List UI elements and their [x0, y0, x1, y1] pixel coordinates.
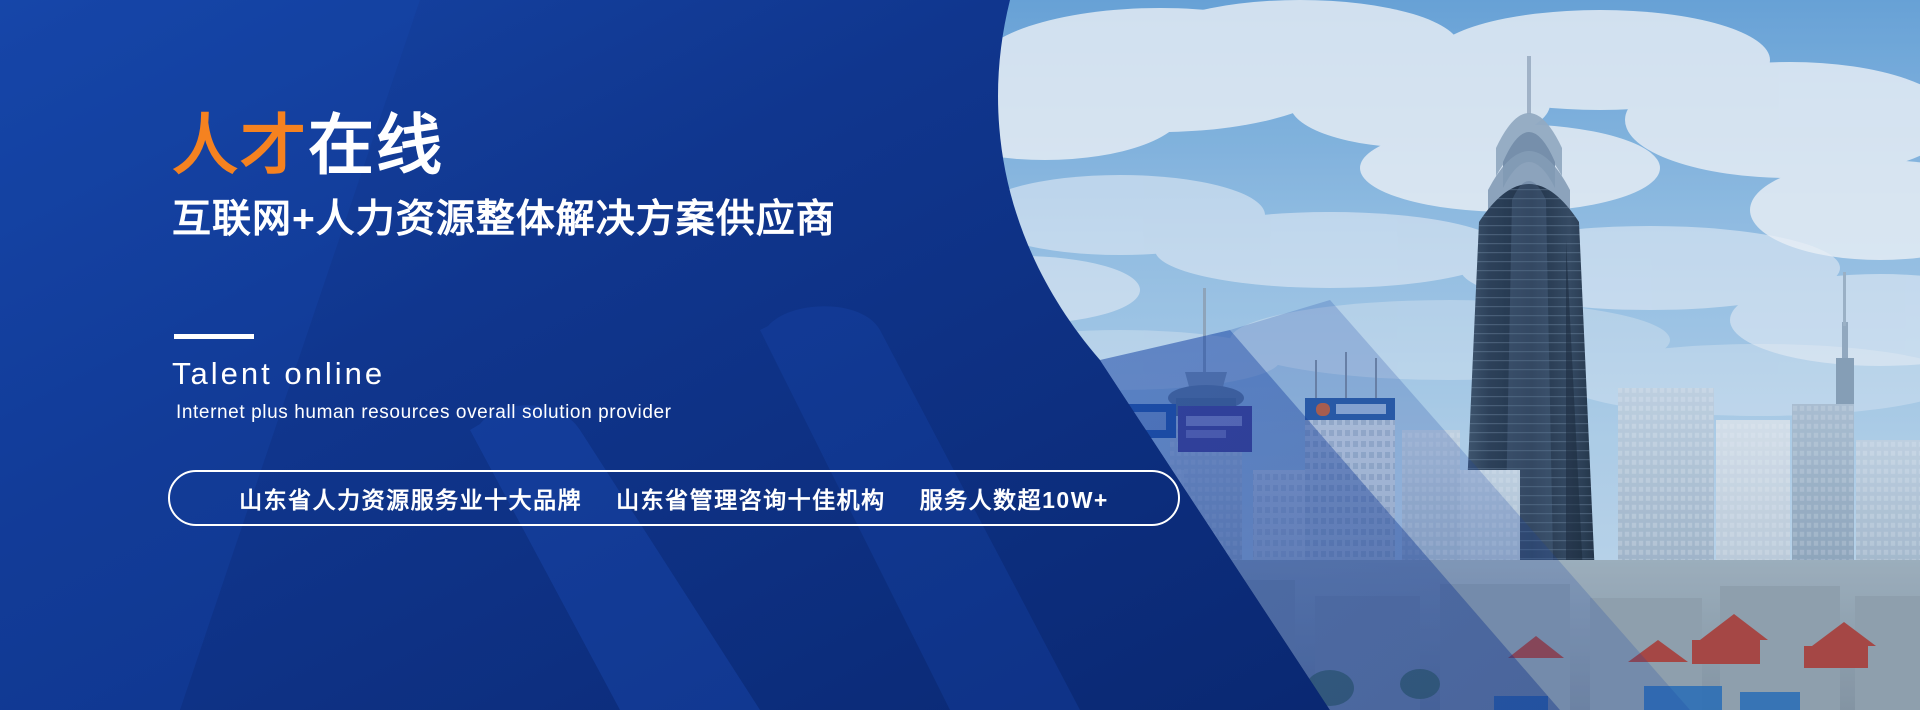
title-plain-text: 在线	[308, 108, 444, 182]
page-subtitle: 互联网+人力资源整体解决方案供应商	[172, 196, 836, 245]
credentials-list: 山东省人力资源服务业十大品牌 山东省管理咨询十佳机构 服务人数超10W+	[239, 481, 1109, 515]
hero-banner: 人才在线 互联网+人力资源整体解决方案供应商 Talent online Int…	[0, 0, 1920, 710]
badge-item-2: 山东省管理咨询十佳机构	[616, 481, 886, 515]
badge-item-3: 服务人数超10W+	[920, 481, 1109, 515]
title-divider	[174, 334, 254, 339]
banner-content: 人才在线 互联网+人力资源整体解决方案供应商 Talent online Int…	[0, 0, 1300, 710]
credentials-pill: 山东省人力资源服务业十大品牌 山东省管理咨询十佳机构 服务人数超10W+	[168, 470, 1180, 526]
tagline-english-sub: Internet plus human resources overall so…	[176, 402, 672, 424]
title-accent-text: 人才	[172, 108, 308, 182]
tagline-english-main: Talent online	[172, 356, 385, 392]
badge-item-1: 山东省人力资源服务业十大品牌	[239, 481, 582, 515]
page-title: 人才在线	[172, 112, 444, 178]
